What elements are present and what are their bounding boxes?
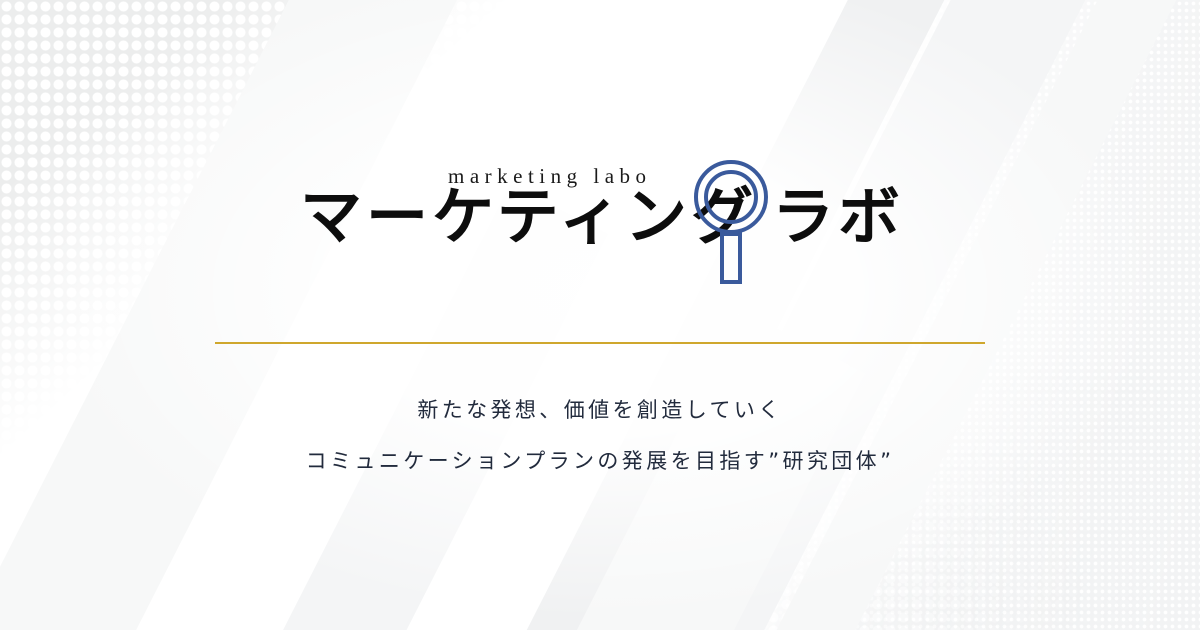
hero-banner: marketing labo マーケティング ラボ 新たな発想、価値を創造してい… [0,0,1200,630]
tagline-line-1: 新たな発想、価値を創造していく [306,400,895,421]
magnifying-glass-icon [692,152,770,286]
logo-title-left: マーケティング [300,186,757,248]
tagline-block: 新たな発想、価値を創造していく コミュニケーションプランの発展を目指す”研究団体… [306,400,895,472]
logo-title-right: ラボ [772,186,904,248]
tagline-line-2: コミュニケーションプランの発展を目指す”研究団体” [306,451,895,472]
gold-divider [215,342,985,344]
brand-logo: marketing labo マーケティング ラボ [280,150,920,290]
hero-content: marketing labo マーケティング ラボ 新たな発想、価値を創造してい… [0,0,1200,630]
